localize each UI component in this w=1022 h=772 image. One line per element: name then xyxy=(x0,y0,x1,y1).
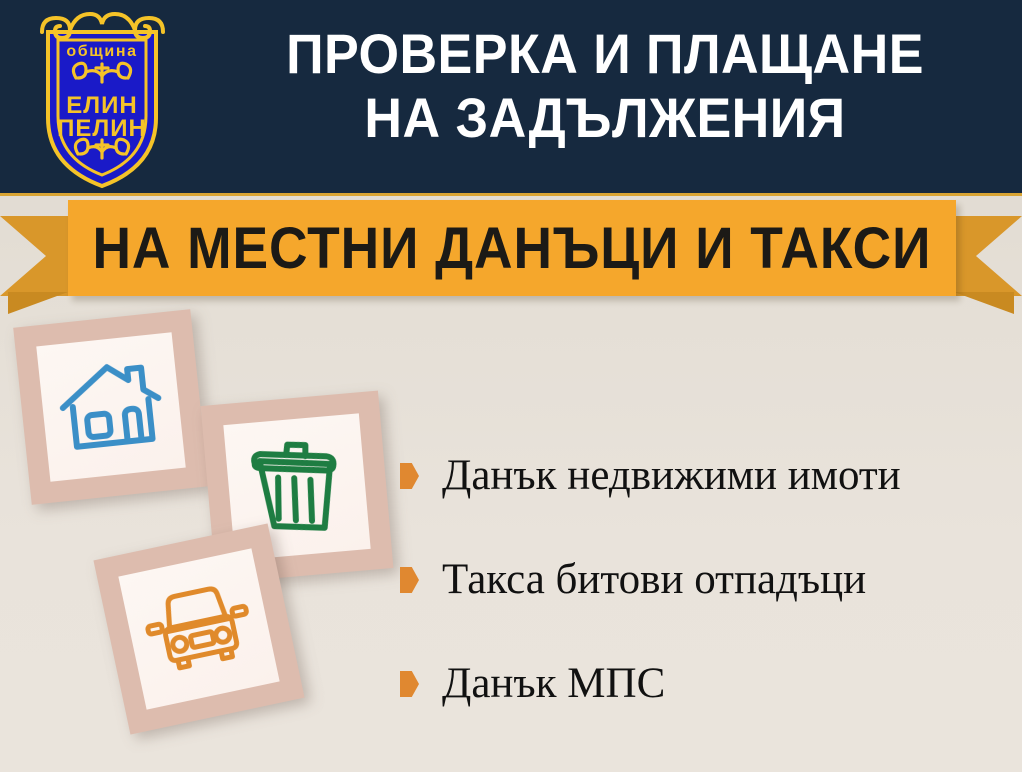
list-item[interactable]: Данък недвижими имоти xyxy=(400,424,1010,528)
ribbon-fold-left xyxy=(8,292,68,314)
coat-of-arms-icon: община ЕЛИН ПЕЛИН xyxy=(20,6,185,190)
arrow-bullet-icon xyxy=(400,463,419,489)
car-icon xyxy=(137,575,261,684)
page-title: ПРОВЕРКА И ПЛАЩАНЕ НА ЗАДЪЛЖЕНИЯ xyxy=(190,22,1020,150)
list-item-label: Такса битови отпадъци xyxy=(442,556,866,604)
title-line-2: НА ЗАДЪЛЖЕНИЯ xyxy=(219,86,991,150)
stamp-paper xyxy=(36,332,185,481)
ribbon-fold-right xyxy=(954,292,1014,314)
ribbon-banner: НА МЕСТНИ ДАНЪЦИ И ТАКСИ xyxy=(68,200,956,296)
list-item[interactable]: Данък МПС xyxy=(400,632,1010,736)
list-item[interactable]: Такса битови отпадъци xyxy=(400,528,1010,632)
arrow-bullet-icon xyxy=(400,671,419,697)
title-line-1: ПРОВЕРКА И ПЛАЩАНЕ xyxy=(219,22,991,86)
crest-word-top: община xyxy=(66,43,137,60)
stamp-card-vehicle xyxy=(93,523,304,734)
poster-canvas: община ЕЛИН ПЕЛИН ПРОВЕРКА И ПЛАЩАНЕ НА … xyxy=(0,0,1022,772)
stamp-card-property xyxy=(13,309,209,505)
ribbon-label: НА МЕСТНИ ДАНЪЦИ И ТАКСИ xyxy=(93,215,932,282)
list-item-label: Данък МПС xyxy=(442,660,665,708)
arrow-bullet-icon xyxy=(400,567,419,593)
crest-word-bottom: ПЕЛИН xyxy=(57,115,147,142)
subtitle-ribbon: НА МЕСТНИ ДАНЪЦИ И ТАКСИ xyxy=(0,196,1022,306)
house-icon xyxy=(54,354,167,460)
stamp-paper xyxy=(118,548,279,709)
list-item-label: Данък недвижими имоти xyxy=(442,452,901,500)
tax-type-list: Данък недвижими имоти Такса битови отпад… xyxy=(400,424,1010,736)
